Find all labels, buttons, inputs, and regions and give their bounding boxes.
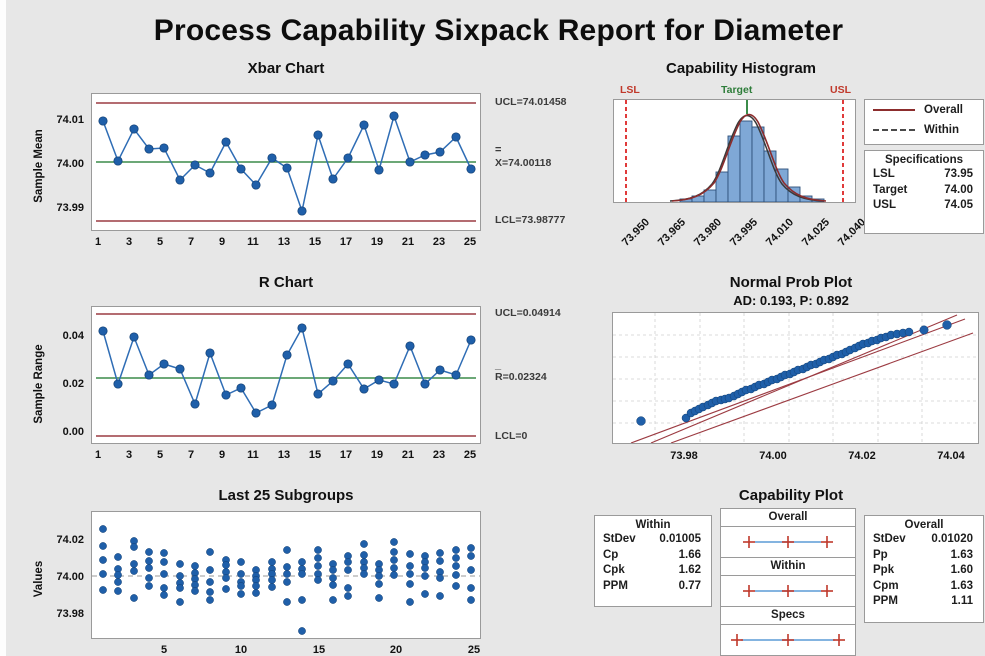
chart-legend: Overall Within bbox=[864, 99, 984, 145]
capability-bands-box: Overall Within Specs bbox=[720, 508, 856, 656]
within-value-cp: 1.66 bbox=[679, 548, 701, 564]
overall-label-ppk: Ppk bbox=[873, 563, 894, 579]
capability-plot-title: Capability Plot bbox=[661, 487, 921, 504]
r-lcl-label: LCL=0 bbox=[495, 430, 527, 442]
histogram-xtick-2: 73.980 bbox=[687, 212, 728, 253]
r-center-overbar: _ bbox=[495, 362, 501, 369]
prob-plot-points bbox=[637, 321, 952, 426]
overall-label-pp: Pp bbox=[873, 548, 888, 564]
legend-row-within: Within bbox=[865, 120, 983, 140]
overall-value-pp: 1.63 bbox=[951, 548, 973, 564]
xbar-xtick-6: 13 bbox=[274, 236, 294, 248]
xbar-xtick-0: 1 bbox=[88, 236, 108, 248]
r-ucl-label: UCL=0.04914 bbox=[495, 307, 561, 319]
overall-row-ppk: Ppk 1.60 bbox=[865, 563, 983, 579]
legend-row-overall: Overall bbox=[865, 100, 983, 120]
spec-row-lsl: LSL 73.95 bbox=[865, 167, 983, 183]
last25-xtick-3: 20 bbox=[386, 644, 406, 656]
r-series-line bbox=[103, 328, 471, 413]
spec-label-target: Target bbox=[873, 183, 907, 199]
overall-label-cpm: Cpm bbox=[873, 579, 899, 595]
xbar-xtick-9: 19 bbox=[367, 236, 387, 248]
last25-xtick-0: 5 bbox=[154, 644, 174, 656]
within-row-cp: Cp 1.66 bbox=[595, 548, 711, 564]
legend-label-overall: Overall bbox=[924, 104, 963, 116]
histogram-bars bbox=[680, 121, 824, 202]
r-xtick-6: 13 bbox=[274, 449, 294, 461]
normal-prob-plot-area bbox=[612, 312, 979, 444]
last-25-subgroups-plot-area bbox=[91, 511, 481, 639]
within-line-icon bbox=[873, 129, 915, 131]
within-label-ppm: PPM bbox=[603, 579, 628, 595]
within-value-ppm: 0.77 bbox=[679, 579, 701, 595]
prob-xtick-0: 73.98 bbox=[659, 450, 709, 462]
r-chart-svg bbox=[92, 307, 480, 443]
specifications-heading: Specifications bbox=[865, 151, 983, 167]
xbar-xtick-7: 15 bbox=[305, 236, 325, 248]
overall-value-ppk: 1.60 bbox=[951, 563, 973, 579]
r-xtick-10: 21 bbox=[398, 449, 418, 461]
r-chart-ytick-2: 0.00 bbox=[30, 426, 84, 438]
spec-label-usl: USL bbox=[873, 198, 896, 214]
normal-prob-plot-svg bbox=[613, 313, 978, 443]
overall-row-pp: Pp 1.63 bbox=[865, 548, 983, 564]
histogram-xtick-5: 74.025 bbox=[795, 212, 836, 253]
xbar-xtick-12: 25 bbox=[460, 236, 480, 248]
xbar-chart-title: Xbar Chart bbox=[121, 60, 451, 77]
last25-ytick-0: 74.02 bbox=[30, 534, 84, 546]
within-row-ppm: PPM 0.77 bbox=[595, 579, 711, 595]
spec-value-lsl: 73.95 bbox=[944, 167, 973, 183]
r-xtick-7: 15 bbox=[305, 449, 325, 461]
capability-histogram-svg bbox=[614, 100, 855, 202]
capability-histogram-title: Capability Histogram bbox=[611, 60, 871, 77]
spec-value-target: 74.00 bbox=[944, 183, 973, 199]
histogram-xtick-4: 74.010 bbox=[759, 212, 800, 253]
xbar-center-overbar: = bbox=[495, 147, 501, 154]
band-graphic-within bbox=[721, 576, 855, 607]
xbar-chart-svg bbox=[92, 94, 480, 230]
overall-value-stdev: 0.01020 bbox=[931, 532, 973, 548]
within-label-cpk: Cpk bbox=[603, 563, 625, 579]
overall-label-ppm: PPM bbox=[873, 594, 898, 610]
band-heading-specs: Specs bbox=[721, 607, 855, 625]
band-graphic-overall bbox=[721, 527, 855, 558]
prob-xtick-3: 74.04 bbox=[926, 450, 976, 462]
histogram-lsl-marker-label: LSL bbox=[620, 84, 640, 96]
capability-within-stats-box: Within StDev 0.01005 Cp 1.66 Cpk 1.62 PP… bbox=[594, 515, 712, 607]
capability-histogram-plot-area bbox=[613, 99, 856, 203]
band-heading-overall: Overall bbox=[721, 509, 855, 527]
band-graphic-specs bbox=[721, 625, 855, 656]
report-page: Process Capability Sixpack Report for Di… bbox=[0, 0, 985, 656]
spec-row-target: Target 74.00 bbox=[865, 183, 983, 199]
xbar-xtick-1: 3 bbox=[119, 236, 139, 248]
r-xtick-1: 3 bbox=[119, 449, 139, 461]
xbar-xtick-2: 5 bbox=[150, 236, 170, 248]
specifications-box: Specifications LSL 73.95 Target 74.00 US… bbox=[864, 150, 984, 234]
band-heading-within: Within bbox=[721, 558, 855, 576]
last-25-subgroups-svg bbox=[92, 512, 480, 638]
prob-xtick-1: 74.00 bbox=[748, 450, 798, 462]
normal-prob-plot-subtitle: AD: 0.193, P: 0.892 bbox=[661, 293, 921, 308]
overall-row-ppm: PPM 1.11 bbox=[865, 594, 983, 610]
histogram-usl-marker-label: USL bbox=[830, 84, 851, 96]
within-value-cpk: 1.62 bbox=[679, 563, 701, 579]
overall-row-cpm: Cpm 1.63 bbox=[865, 579, 983, 595]
xbar-xtick-5: 11 bbox=[243, 236, 263, 248]
xbar-data-points bbox=[99, 112, 475, 215]
within-box-heading: Within bbox=[595, 516, 711, 532]
within-row-cpk: Cpk 1.62 bbox=[595, 563, 711, 579]
xbar-chart-plot-area bbox=[91, 93, 481, 231]
spec-value-usl: 74.05 bbox=[944, 198, 973, 214]
xbar-xtick-8: 17 bbox=[336, 236, 356, 248]
r-xtick-12: 25 bbox=[460, 449, 480, 461]
xbar-chart-ytick-2: 73.99 bbox=[36, 202, 84, 214]
prob-xtick-2: 74.02 bbox=[837, 450, 887, 462]
r-chart-title: R Chart bbox=[121, 274, 451, 291]
within-row-stdev: StDev 0.01005 bbox=[595, 532, 711, 548]
histogram-xtick-0: 73.950 bbox=[615, 212, 656, 253]
legend-label-within: Within bbox=[924, 124, 959, 136]
within-value-stdev: 0.01005 bbox=[659, 532, 701, 548]
r-xtick-3: 7 bbox=[181, 449, 201, 461]
xbar-xtick-10: 21 bbox=[398, 236, 418, 248]
overall-label-stdev: StDev bbox=[873, 532, 906, 548]
normal-prob-plot-title: Normal Prob Plot bbox=[661, 274, 921, 291]
last25-ytick-2: 73.98 bbox=[30, 608, 84, 620]
spec-row-usl: USL 74.05 bbox=[865, 198, 983, 214]
histogram-target-marker-label: Target bbox=[721, 84, 752, 96]
xbar-xtick-11: 23 bbox=[429, 236, 449, 248]
xbar-chart-ytick-1: 74.00 bbox=[36, 158, 84, 170]
overall-box-heading: Overall bbox=[865, 516, 983, 532]
within-label-cp: Cp bbox=[603, 548, 618, 564]
overall-value-ppm: 1.11 bbox=[951, 594, 973, 610]
overall-row-stdev: StDev 0.01020 bbox=[865, 532, 983, 548]
within-label-stdev: StDev bbox=[603, 532, 636, 548]
last25-xtick-1: 10 bbox=[231, 644, 251, 656]
r-chart-ytick-0: 0.04 bbox=[30, 330, 84, 342]
r-chart-plot-area bbox=[91, 306, 481, 444]
capability-overall-stats-box: Overall StDev 0.01020 Pp 1.63 Ppk 1.60 C… bbox=[864, 515, 984, 623]
xbar-xtick-3: 7 bbox=[181, 236, 201, 248]
last25-xtick-4: 25 bbox=[464, 644, 484, 656]
overall-line-icon bbox=[873, 109, 915, 111]
r-xtick-4: 9 bbox=[212, 449, 232, 461]
r-xtick-0: 1 bbox=[88, 449, 108, 461]
spec-label-lsl: LSL bbox=[873, 167, 895, 183]
last25-ytick-1: 74.00 bbox=[30, 571, 84, 583]
r-center-label: R=0.02324 bbox=[495, 371, 547, 383]
r-chart-ytick-1: 0.02 bbox=[30, 378, 84, 390]
last-25-data-points bbox=[99, 525, 474, 634]
histogram-xtick-1: 73.965 bbox=[651, 212, 692, 253]
last-25-subgroups-title: Last 25 Subgroups bbox=[121, 487, 451, 504]
r-xtick-8: 17 bbox=[336, 449, 356, 461]
xbar-center-label: X=74.00118 bbox=[495, 157, 551, 169]
last25-xtick-2: 15 bbox=[309, 644, 329, 656]
xbar-ucl-label: UCL=74.01458 bbox=[495, 96, 567, 108]
overall-value-cpm: 1.63 bbox=[951, 579, 973, 595]
r-xtick-5: 11 bbox=[243, 449, 263, 461]
xbar-xtick-4: 9 bbox=[212, 236, 232, 248]
histogram-xtick-3: 73.995 bbox=[723, 212, 764, 253]
page-title: Process Capability Sixpack Report for Di… bbox=[6, 14, 985, 48]
r-xtick-2: 5 bbox=[150, 449, 170, 461]
xbar-chart-ytick-0: 74.01 bbox=[36, 114, 84, 126]
xbar-lcl-label: LCL=73.98777 bbox=[495, 214, 565, 226]
r-xtick-9: 19 bbox=[367, 449, 387, 461]
r-xtick-11: 23 bbox=[429, 449, 449, 461]
